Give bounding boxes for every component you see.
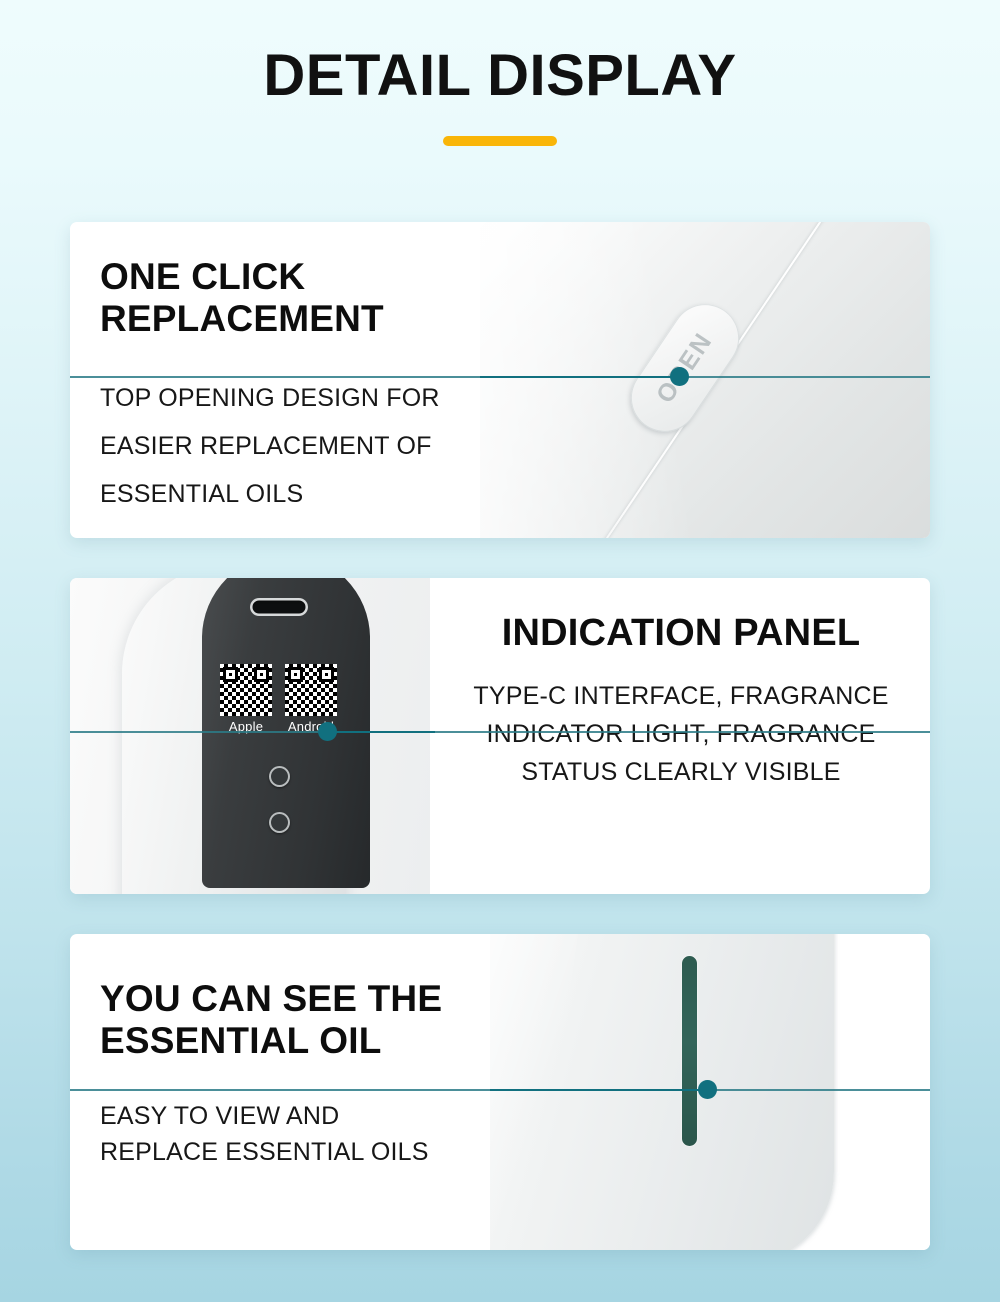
card-body-line-3: STATUS CLEARLY VISIBLE [521, 758, 840, 786]
qr-code-icon [220, 664, 272, 716]
device-shell: Apple Android [122, 578, 346, 894]
device-body [490, 934, 834, 1250]
feature-card-indication-panel: Apple Android INDICATION PANEL TYPE-C IN… [70, 578, 930, 894]
card-text-block: YOU CAN SEE THE ESSENTIAL OIL EASY TO VI… [70, 934, 490, 1250]
card-text-block: ONE CLICK REPLACEMENT TOP OPENING DESIGN… [70, 222, 480, 538]
card-text-block: INDICATION PANEL TYPE-C INTERFACE, FRAGR… [430, 578, 930, 894]
feature-card-one-click-replacement: ONE CLICK REPLACEMENT TOP OPENING DESIGN… [70, 222, 930, 538]
card-heading: YOU CAN SEE THE ESSENTIAL OIL [100, 978, 462, 1062]
device-rear-panel: Apple Android [202, 578, 370, 888]
card-heading: ONE CLICK REPLACEMENT [100, 256, 452, 340]
callout-leader-line [490, 1089, 706, 1091]
card-heading-line-1: YOU CAN SEE THE [100, 978, 442, 1019]
product-photo-indication-panel: Apple Android [70, 578, 430, 894]
card-body-line-1: EASY TO VIEW AND [100, 1102, 339, 1130]
photo-highlight [490, 934, 587, 1250]
card-heading-line-1: ONE CLICK [100, 256, 305, 297]
product-photo-open-cap: OPEN [480, 222, 930, 538]
card-heading-line-1: INDICATION PANEL [502, 612, 861, 654]
card-heading-line-2: ESSENTIAL OIL [100, 1020, 382, 1061]
card-body-line-1: TYPE-C INTERFACE, FRAGRANCE [473, 682, 888, 710]
card-heading-line-2: REPLACEMENT [100, 298, 384, 339]
page-header: DETAIL DISPLAY [0, 0, 1000, 146]
callout-leader-line [480, 376, 678, 378]
indicator-light-upper [269, 766, 290, 787]
card-heading: INDICATION PANEL [452, 612, 910, 655]
card-body-line-1: TOP OPENING DESIGN FOR [100, 384, 440, 412]
indicator-light-lower [269, 812, 290, 833]
callout-marker-dot [698, 1080, 717, 1099]
qr-code-icon [285, 664, 337, 716]
oil-level-window [682, 956, 697, 1146]
callout-leader-line [325, 731, 435, 733]
card-body-line-2: INDICATOR LIGHT, FRAGRANCE [486, 720, 875, 748]
qr-code-row: Apple Android [220, 664, 337, 734]
callout-marker-dot [318, 722, 337, 741]
card-body-line-2: REPLACE ESSENTIAL OILS [100, 1138, 429, 1166]
title-accent-rule [443, 136, 557, 146]
qr-code-apple: Apple [220, 664, 272, 734]
card-body: EASY TO VIEW AND REPLACE ESSENTIAL OILS [100, 1098, 462, 1171]
card-body-line-2: EASIER REPLACEMENT OF [100, 432, 432, 460]
card-body: TOP OPENING DESIGN FOR EASIER REPLACEMEN… [100, 374, 452, 518]
card-body-line-3: ESSENTIAL OILS [100, 480, 303, 508]
card-divider-line [70, 731, 930, 733]
feature-card-see-essential-oil: YOU CAN SEE THE ESSENTIAL OIL EASY TO VI… [70, 934, 930, 1250]
usb-c-port-icon [250, 598, 308, 616]
callout-marker-dot [670, 367, 689, 386]
page-title: DETAIL DISPLAY [0, 46, 1000, 107]
card-body: TYPE-C INTERFACE, FRAGRANCE INDICATOR LI… [452, 677, 910, 791]
